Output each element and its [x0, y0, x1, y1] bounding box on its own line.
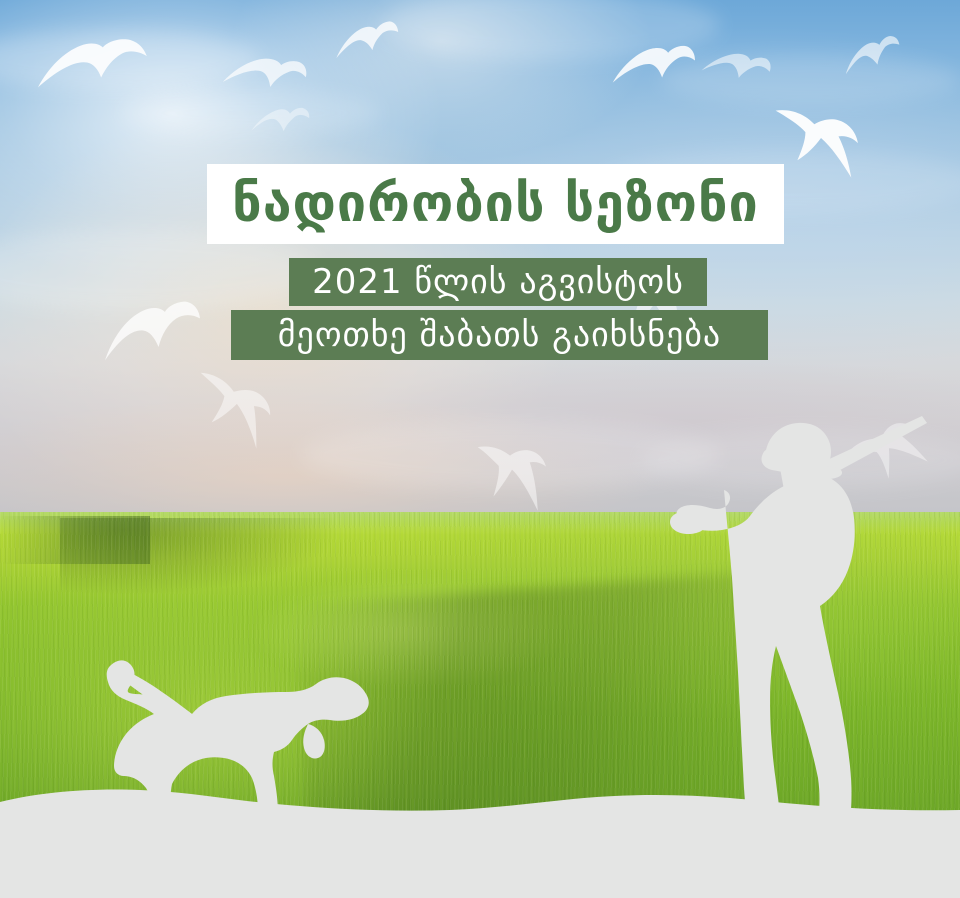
subtitle-line1: 2021 წლის აგვისტოს [312, 265, 684, 299]
foreground-ground [0, 768, 960, 898]
bird-icon [247, 102, 313, 138]
subtitle-banner-line2: მეოთხე შაბათს გაიხსნება [231, 310, 768, 360]
bird-icon [463, 433, 553, 521]
hunting-season-poster: ნადირობის სეზონი 2021 წლის აგვისტოს მეოთ… [0, 0, 960, 898]
bird-icon [220, 48, 310, 99]
subtitle-banner-line1: 2021 წლის აგვისტოს [289, 258, 707, 306]
subtitle-line2: მეოთხე შაბათს გაიხსნება [278, 318, 721, 352]
title-banner: ნადირობის სეზონი [207, 164, 784, 244]
page-title: ნადირობის სეზონი [232, 178, 759, 230]
bird-icon [606, 37, 700, 90]
